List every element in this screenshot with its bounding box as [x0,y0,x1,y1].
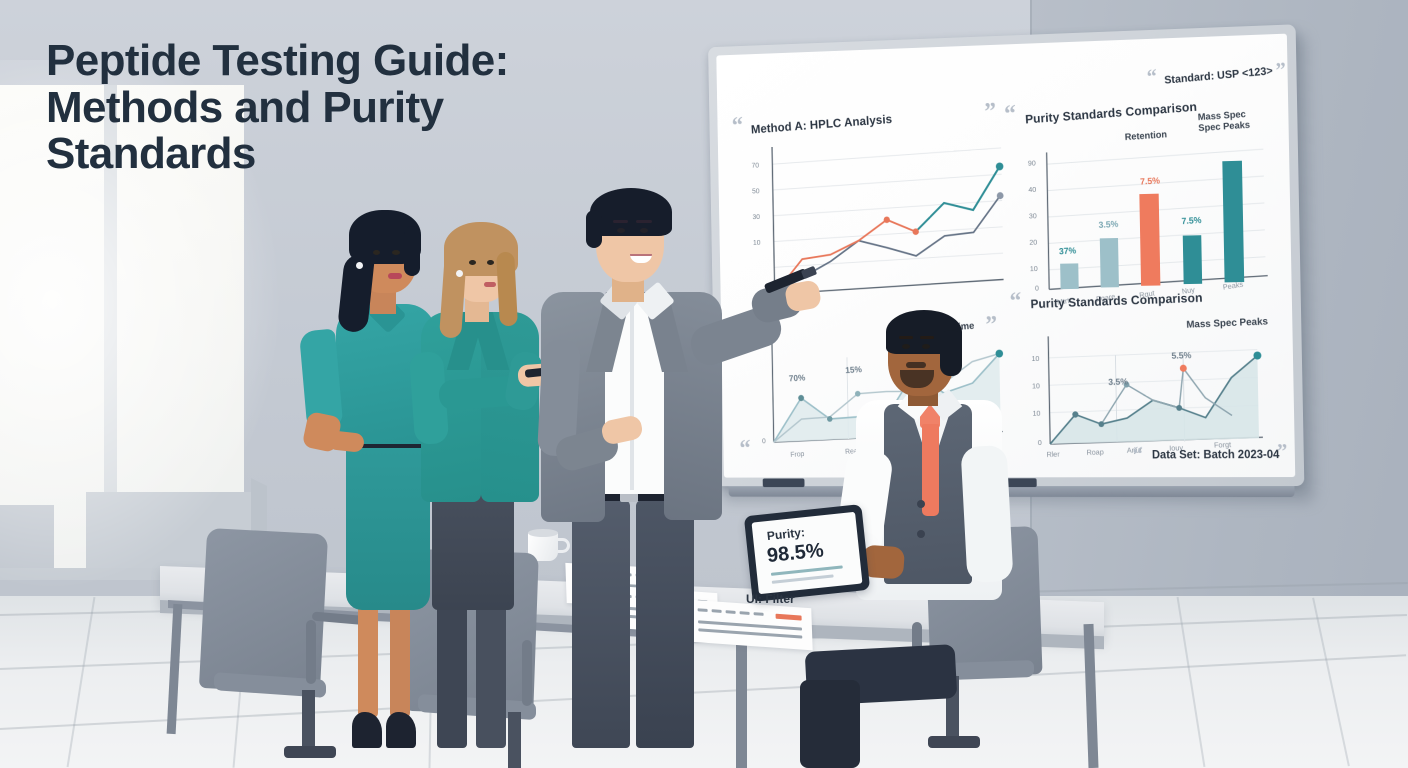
retention-xtick-0: Frop [790,449,805,459]
chart-hplc-ytick-3: 50 [752,187,760,196]
chart-purity-bars-title: Purity Standards Comparison [1025,100,1197,127]
tablet[interactable]: Purity: 98.5% [744,504,870,602]
purityarea-point-label-0: 3.5% [1108,376,1128,387]
marker-1[interactable] [763,478,805,487]
bars-ytick-3: 30 [1029,211,1037,220]
whiteboard[interactable]: “ ” Method A: HPLC Analysis [708,24,1308,494]
retention-ytick-0: 0 [762,437,766,446]
chart-purity-area-title: Purity Standards Comparison [1030,291,1203,311]
ui-filter-label: UI: Filter [746,592,795,606]
whiteboard-surface[interactable]: “ ” Method A: HPLC Analysis [716,34,1295,478]
quote-open-purityarea-icon: “ [1009,289,1022,314]
quote-close-standard-icon: ” [1275,59,1287,81]
bar-label-0: 37% [1059,245,1077,256]
page-title-line-3: Standards [46,131,566,178]
page-title-line-1: Peptide Testing Guide: [46,38,566,85]
chart-hplc-ytick-4: 70 [751,161,759,170]
chart-hplc-ytick-1: 10 [753,238,761,247]
whiteboard-tray [729,486,1295,497]
purityarea-xtick-0: Rler [1046,450,1060,459]
quote-close-dataset-icon: ” [1277,441,1288,462]
cabinet-left [0,505,54,575]
chart-hplc-ytick-2: 30 [752,212,760,221]
bars-ytick-2: 20 [1029,238,1037,247]
tablet-rule-2 [772,574,834,583]
chart-hplc-title: Method A: HPLC Analysis [751,112,893,136]
chart-purity-area[interactable]: “ Purity Standards Comparison Mass Spec … [1007,279,1293,477]
paper-3[interactable] [689,600,812,651]
dataset-caption: Data Set: Batch 2023-04 [1152,449,1280,461]
quote-open-icon: “ [731,113,743,138]
tablet-purity-value: 98.5% [766,539,825,568]
purityarea-ytick-0: 0 [1038,438,1042,447]
quote-open-standard-icon: “ [1146,66,1158,88]
mug-rim [528,529,558,537]
quote-open-dataset-icon: “ [1132,444,1143,465]
chart-bars-annotation-massspec: Mass Spec Spec Peaks [1198,110,1251,135]
page-title-line-2: Methods and Purity [46,85,566,132]
bar-label-1: 3.5% [1098,219,1118,230]
standard-caption: Standard: USP <123> [1164,65,1273,86]
bars-ytick-1: 10 [1030,264,1038,273]
bar-label-3: 7.5% [1181,215,1201,226]
paper-3-accent [776,614,802,621]
retention-point-label-1: 15% [845,364,862,375]
bars-ytick-4: 40 [1028,185,1036,194]
bar-label-2: 7.5% [1140,175,1160,186]
purityarea-point-label-1: 5.5% [1171,350,1191,361]
purityarea-ytick-3: 10 [1031,354,1039,363]
marker-3[interactable] [1004,478,1036,487]
bars-ytick-5: 90 [1028,159,1036,168]
tablet-purity-label: Purity: [766,525,805,543]
purityarea-xtick-4: Forgt [1214,440,1232,450]
purityarea-xtick-1: Roap [1086,447,1104,457]
retention-point-label-0: 70% [789,373,806,384]
quote-open-bars-icon: “ [1004,101,1017,126]
purityarea-ytick-1: 10 [1032,409,1040,418]
page-title: Peptide Testing Guide: Methods and Purit… [46,38,566,178]
purityarea-ytick-2: 10 [1032,381,1040,390]
quote-close-icon: ” [984,99,997,124]
tablet-screen[interactable]: Purity: 98.5% [752,512,863,594]
scene-root: “ ” Method A: HPLC Analysis [0,0,1408,768]
